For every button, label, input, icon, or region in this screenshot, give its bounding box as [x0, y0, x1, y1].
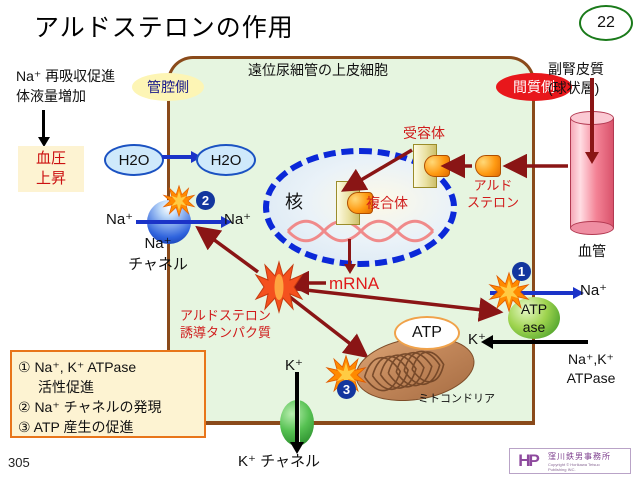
transcription-arrow-icon — [348, 239, 351, 265]
legend-item-1-sub: 活性促進 — [18, 377, 198, 397]
protein-to-sodium-channel-arrow-icon — [198, 228, 258, 272]
publisher-copyright-line2: Publishing INC. — [548, 467, 611, 472]
adrenal-cortex-label: 副腎皮質 (球状層) — [548, 60, 604, 98]
publisher-logo-text: 窪川鉄男事務所 Copyright © Horikawa Tetsuo Publ… — [546, 451, 611, 472]
atpase-inner-line2: ase — [508, 318, 560, 336]
step-marker-3: 3 — [337, 380, 356, 399]
na-k-atpase-name-line1: Na⁺,K⁺ — [545, 350, 637, 369]
atp-badge: ATP — [394, 316, 460, 350]
adrenal-secretion-arrow-icon — [590, 78, 594, 154]
publisher-logo: HP 窪川鉄男事務所 Copyright © Horikawa Tetsuo P… — [509, 448, 631, 474]
induced-protein-line2: 誘導タンパク質 — [180, 324, 271, 341]
page-number: 305 — [8, 455, 30, 470]
step-marker-2: 2 — [196, 191, 215, 210]
atp-label: ATP — [412, 324, 442, 342]
induced-protein-label: アルドステロン 誘導タンパク質 — [180, 307, 271, 341]
legend-item-2: ② Na⁺ チャネルの発現 — [18, 397, 198, 417]
mrna-label: mRNA — [329, 274, 379, 294]
pump-potassium-in-arrow-icon — [492, 340, 588, 344]
adrenal-cortex-line1: 副腎皮質 — [548, 60, 604, 79]
step-marker-1: 1 — [512, 262, 531, 281]
slide-canvas: アルドステロンの作用 22 遠位尿細管の上皮細胞 管腔側 間質側 Na⁺ 再吸収… — [0, 0, 640, 480]
induced-protein-burst-icon — [254, 262, 304, 312]
blood-vessel-bottom-cap — [570, 221, 614, 235]
na-k-atpase-name: Na⁺,K⁺ ATPase — [545, 350, 637, 388]
publisher-name-japanese: 窪川鉄男事務所 — [548, 451, 611, 462]
pump-sodium-out-label: Na⁺ — [580, 281, 607, 299]
legend-item-1: ① Na⁺, K⁺ ATPase — [18, 357, 198, 377]
legend-item-3: ③ ATP 産生の促進 — [18, 417, 198, 437]
blood-vessel-label: 血管 — [578, 241, 606, 261]
publisher-logo-mark: HP — [510, 449, 546, 473]
na-k-atpase-name-line2: ATPase — [545, 369, 637, 388]
adrenal-cortex-line2: (球状層) — [548, 79, 604, 98]
legend-box: ① Na⁺, K⁺ ATPase 活性促進 ② Na⁺ チャネルの発現 ③ AT… — [10, 350, 206, 438]
protein-to-atpase-arrow-icon — [288, 288, 500, 312]
activation-burst-sodium-channel-icon — [161, 185, 197, 217]
mitochondrion-label: ミトコンドリア — [418, 390, 495, 406]
receptor-translocation-arrow-icon — [344, 150, 412, 190]
